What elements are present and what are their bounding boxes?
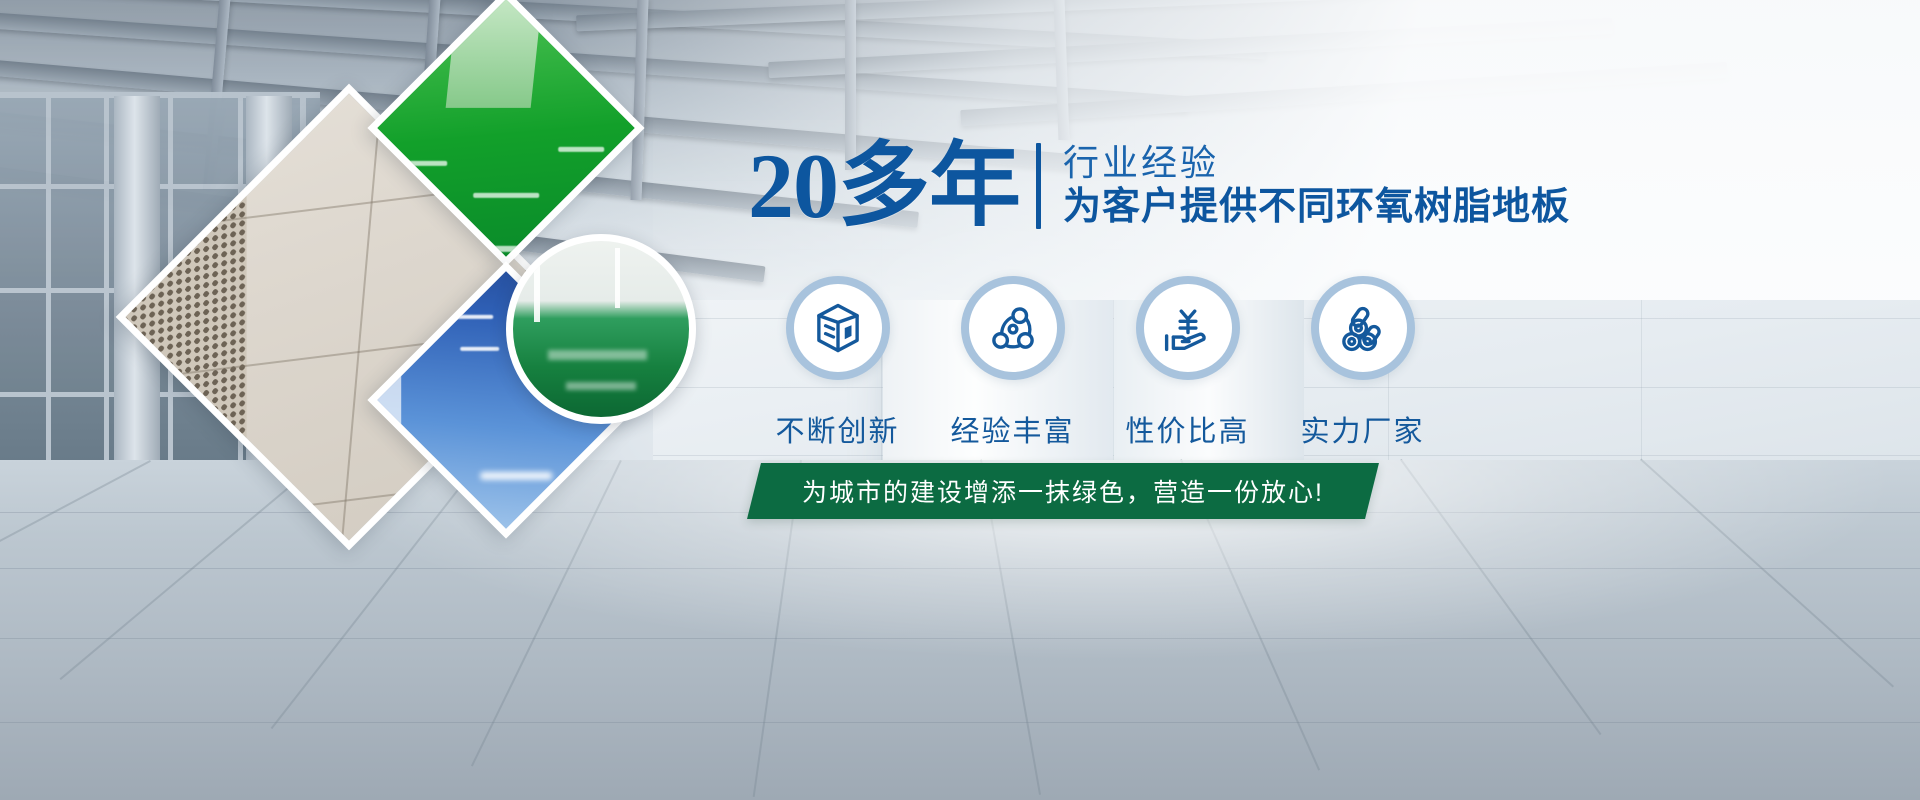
photo-collage <box>108 2 748 642</box>
headline-line-1: 行业经验 <box>1063 142 1570 184</box>
headline: 20多年 行业经验 为客户提供不同环氧树脂地板 <box>748 140 1570 232</box>
feature-label: 经验丰富 <box>950 408 1074 450</box>
banner-content: 20多年 行业经验 为客户提供不同环氧树脂地板 不断创新 <box>740 0 1920 800</box>
feature-item-experience[interactable]: 经验丰富 <box>925 276 1100 450</box>
feature-icon-ring <box>1136 276 1240 380</box>
network-nodes-icon <box>986 301 1040 355</box>
hand-yuan-icon <box>1161 301 1215 355</box>
headline-line-2: 为客户提供不同环氧树脂地板 <box>1063 185 1570 230</box>
feature-label: 不断创新 <box>775 408 899 450</box>
feature-list: 不断创新 经验丰富 <box>750 276 1650 450</box>
feature-icon-ring <box>961 276 1065 380</box>
feature-item-value[interactable]: 性价比高 <box>1100 276 1275 450</box>
feature-label: 性价比高 <box>1125 408 1249 450</box>
feature-item-innovation[interactable]: 不断创新 <box>750 276 925 450</box>
slogan-banner: 为城市的建设增添一抹绿色，营造一份放心! <box>747 463 1379 519</box>
headline-divider <box>1036 143 1041 229</box>
hero-banner: 20多年 行业经验 为客户提供不同环氧树脂地板 不断创新 <box>0 0 1920 800</box>
years-number: 20多年 <box>748 140 1020 232</box>
slogan-text: 为城市的建设增添一抹绿色，营造一份放心! <box>802 473 1324 509</box>
stacked-rolls-icon <box>1336 301 1390 355</box>
green-floor-room-photo <box>506 234 696 424</box>
feature-icon-ring <box>786 276 890 380</box>
feature-icon-ring <box>1311 276 1415 380</box>
cube-box-icon <box>811 301 865 355</box>
feature-label: 实力厂家 <box>1300 408 1424 450</box>
feature-item-factory[interactable]: 实力厂家 <box>1275 276 1450 450</box>
